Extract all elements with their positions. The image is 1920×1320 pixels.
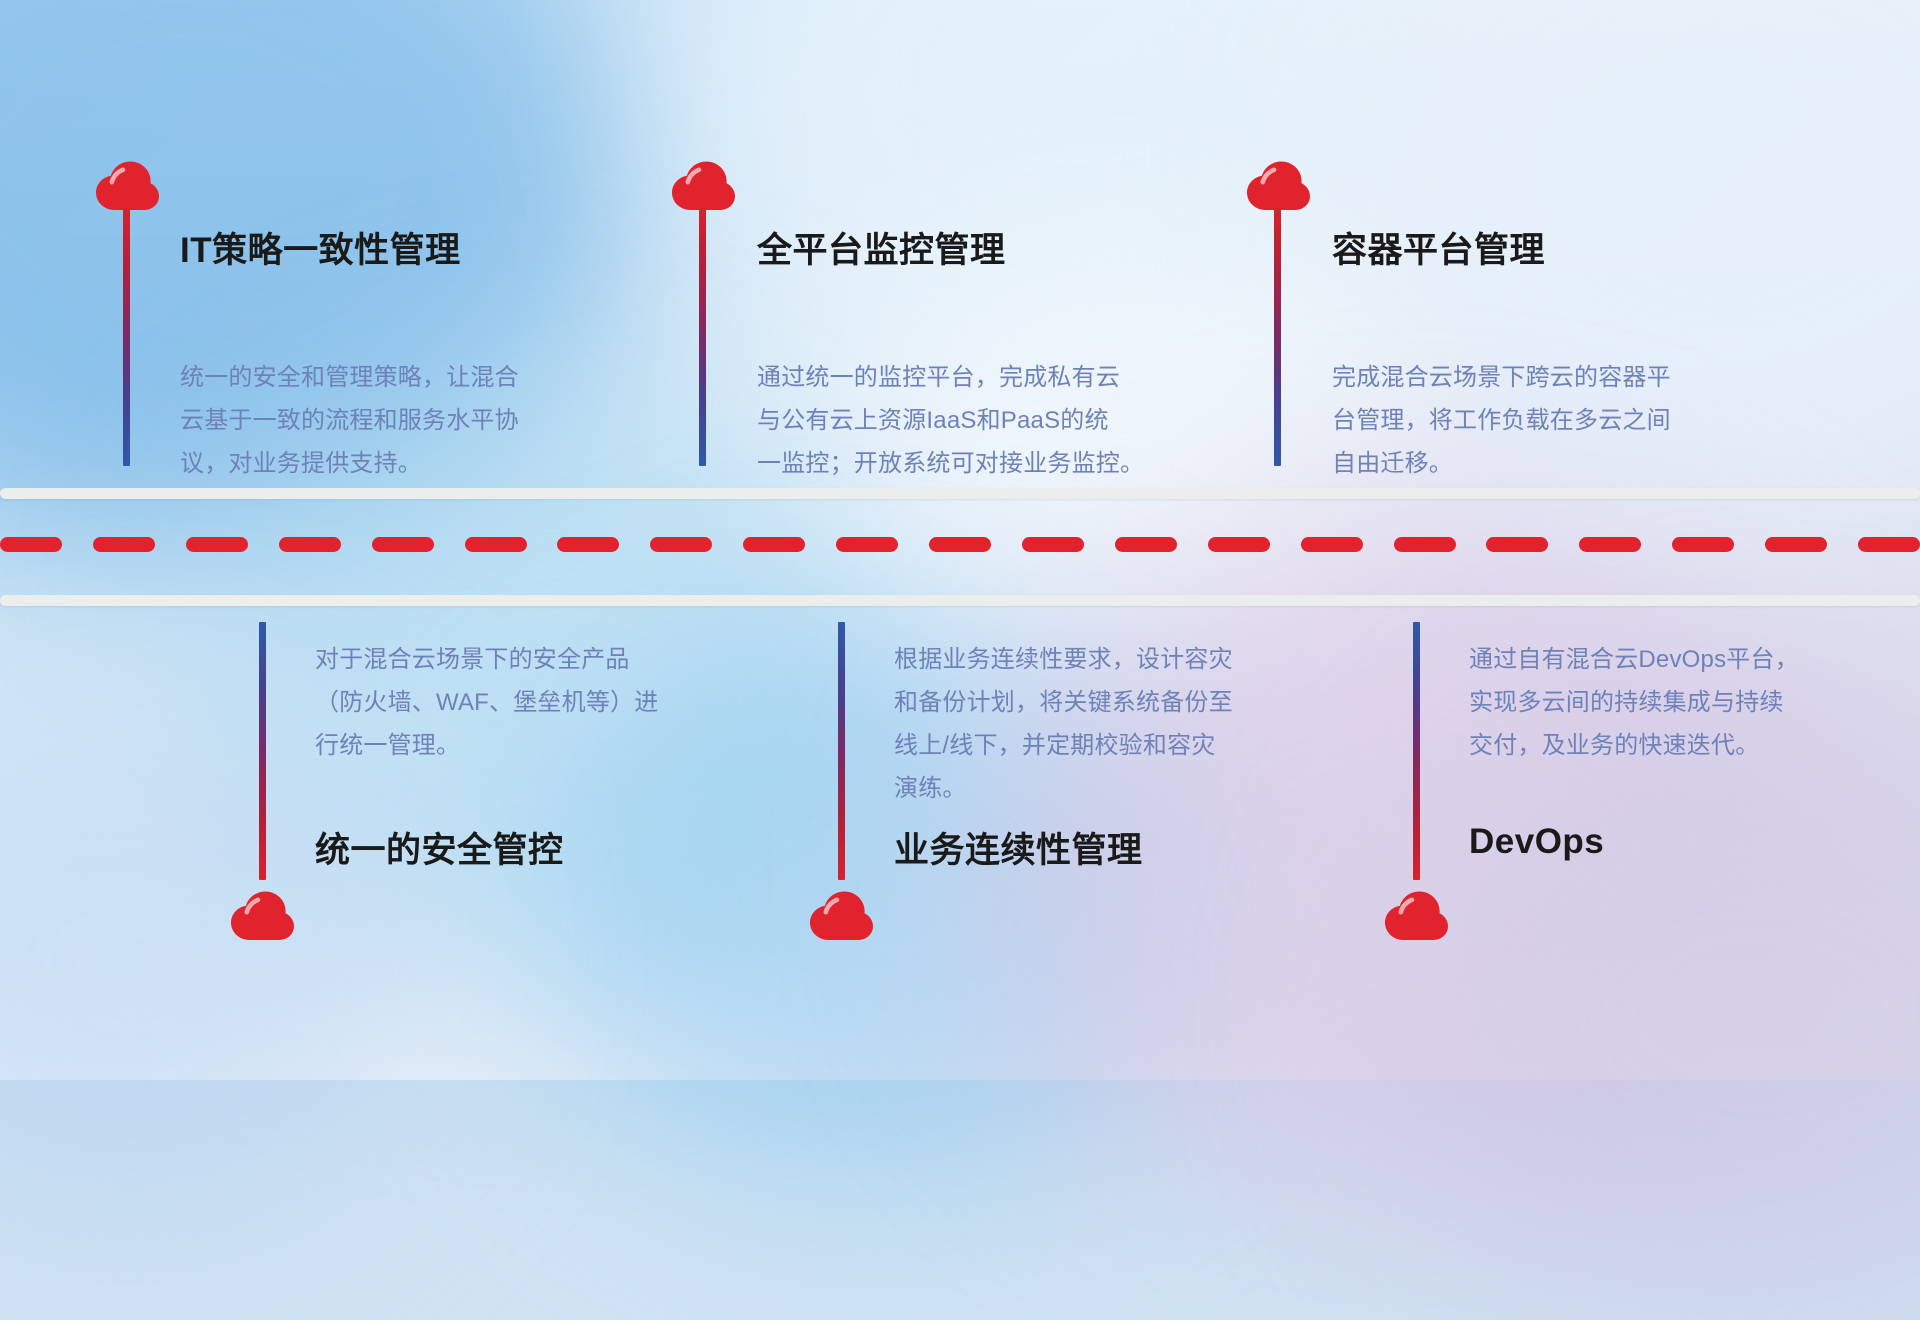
road-dash-segment: [1301, 537, 1363, 552]
road-dash-segment: [1858, 537, 1920, 552]
road-dash-segment: [1115, 537, 1177, 552]
body-line: 交付，及业务的快速迭代。: [1469, 724, 1919, 767]
road-dash-segment: [1394, 537, 1456, 552]
connector-stem: [1274, 208, 1281, 466]
body-line: 根据业务连续性要求，设计容灾: [894, 638, 1344, 681]
top-item-3-heading: 容器平台管理: [1332, 222, 1545, 273]
body-line: 行统一管理。: [315, 724, 755, 767]
connector-stem: [838, 622, 845, 880]
connector-stem: [1413, 622, 1420, 880]
road-dash-segment: [279, 537, 341, 552]
bottom-item-1-heading: 统一的安全管控: [315, 822, 564, 873]
cloud-icon: [808, 890, 874, 942]
body-line: 通过自有混合云DevOps平台，: [1469, 638, 1919, 681]
body-line: 台管理，将工作负载在多云之间: [1332, 399, 1792, 442]
cloud-icon: [94, 160, 160, 212]
road-dash-segment: [743, 537, 805, 552]
road-edge-top: [0, 488, 1920, 499]
road-dash-segment: [650, 537, 712, 552]
connector-stem: [699, 208, 706, 466]
body-line: 云基于一致的流程和服务水平协: [180, 399, 620, 442]
top-item-3-body: 完成混合云场景下跨云的容器平 台管理，将工作负载在多云之间 自由迁移。: [1332, 356, 1792, 485]
road-dash-segment: [836, 537, 898, 552]
body-line: 与公有云上资源IaaS和PaaS的统: [757, 399, 1227, 442]
road-dash-segment: [1765, 537, 1827, 552]
road-dash-segment: [186, 537, 248, 552]
top-item-1-body: 统一的安全和管理策略，让混合 云基于一致的流程和服务水平协 议，对业务提供支持。: [180, 356, 620, 485]
bottom-item-2-body: 根据业务连续性要求，设计容灾 和备份计划，将关键系统备份至 线上/线下，并定期校…: [894, 638, 1344, 810]
body-line: （防火墙、WAF、堡垒机等）进: [315, 681, 755, 724]
body-line: 对于混合云场景下的安全产品: [315, 638, 755, 681]
road-dash-segment: [93, 537, 155, 552]
road-dash-segment: [1022, 537, 1084, 552]
top-item-2-body: 通过统一的监控平台，完成私有云 与公有云上资源IaaS和PaaS的统 一监控；开…: [757, 356, 1227, 485]
bottom-item-1-body: 对于混合云场景下的安全产品 （防火墙、WAF、堡垒机等）进 行统一管理。: [315, 638, 755, 767]
cloud-icon: [670, 160, 736, 212]
top-item-1-heading: IT策略一致性管理: [180, 222, 461, 273]
road-edge-bottom: [0, 595, 1920, 606]
bottom-item-2-heading: 业务连续性管理: [894, 822, 1143, 873]
bottom-item-3-heading: DevOps: [1469, 822, 1604, 862]
cloud-icon: [1245, 160, 1311, 212]
top-item-2-heading: 全平台监控管理: [757, 222, 1006, 273]
road-dash-segment: [0, 537, 62, 552]
body-line: 线上/线下，并定期校验和容灾: [894, 724, 1344, 767]
road-dash-segment: [1579, 537, 1641, 552]
body-line: 统一的安全和管理策略，让混合: [180, 356, 620, 399]
cloud-icon: [1383, 890, 1449, 942]
road-center-dashed-line: [0, 537, 1920, 552]
road-dash-segment: [1208, 537, 1270, 552]
bottom-item-3-body: 通过自有混合云DevOps平台， 实现多云间的持续集成与持续 交付，及业务的快速…: [1469, 638, 1919, 767]
body-line: 实现多云间的持续集成与持续: [1469, 681, 1919, 724]
body-line: 自由迁移。: [1332, 442, 1792, 485]
body-line: 议，对业务提供支持。: [180, 442, 620, 485]
cloud-icon: [229, 890, 295, 942]
road-dash-segment: [557, 537, 619, 552]
road-dash-segment: [1486, 537, 1548, 552]
body-line: 完成混合云场景下跨云的容器平: [1332, 356, 1792, 399]
body-line: 通过统一的监控平台，完成私有云: [757, 356, 1227, 399]
body-line: 和备份计划，将关键系统备份至: [894, 681, 1344, 724]
road-dash-segment: [465, 537, 527, 552]
road-dash-segment: [929, 537, 991, 552]
connector-stem: [259, 622, 266, 880]
connector-stem: [123, 208, 130, 466]
road-divider: [0, 488, 1920, 608]
body-line: 演练。: [894, 767, 1344, 810]
body-line: 一监控；开放系统可对接业务监控。: [757, 442, 1227, 485]
road-dash-segment: [372, 537, 434, 552]
road-dash-segment: [1672, 537, 1734, 552]
